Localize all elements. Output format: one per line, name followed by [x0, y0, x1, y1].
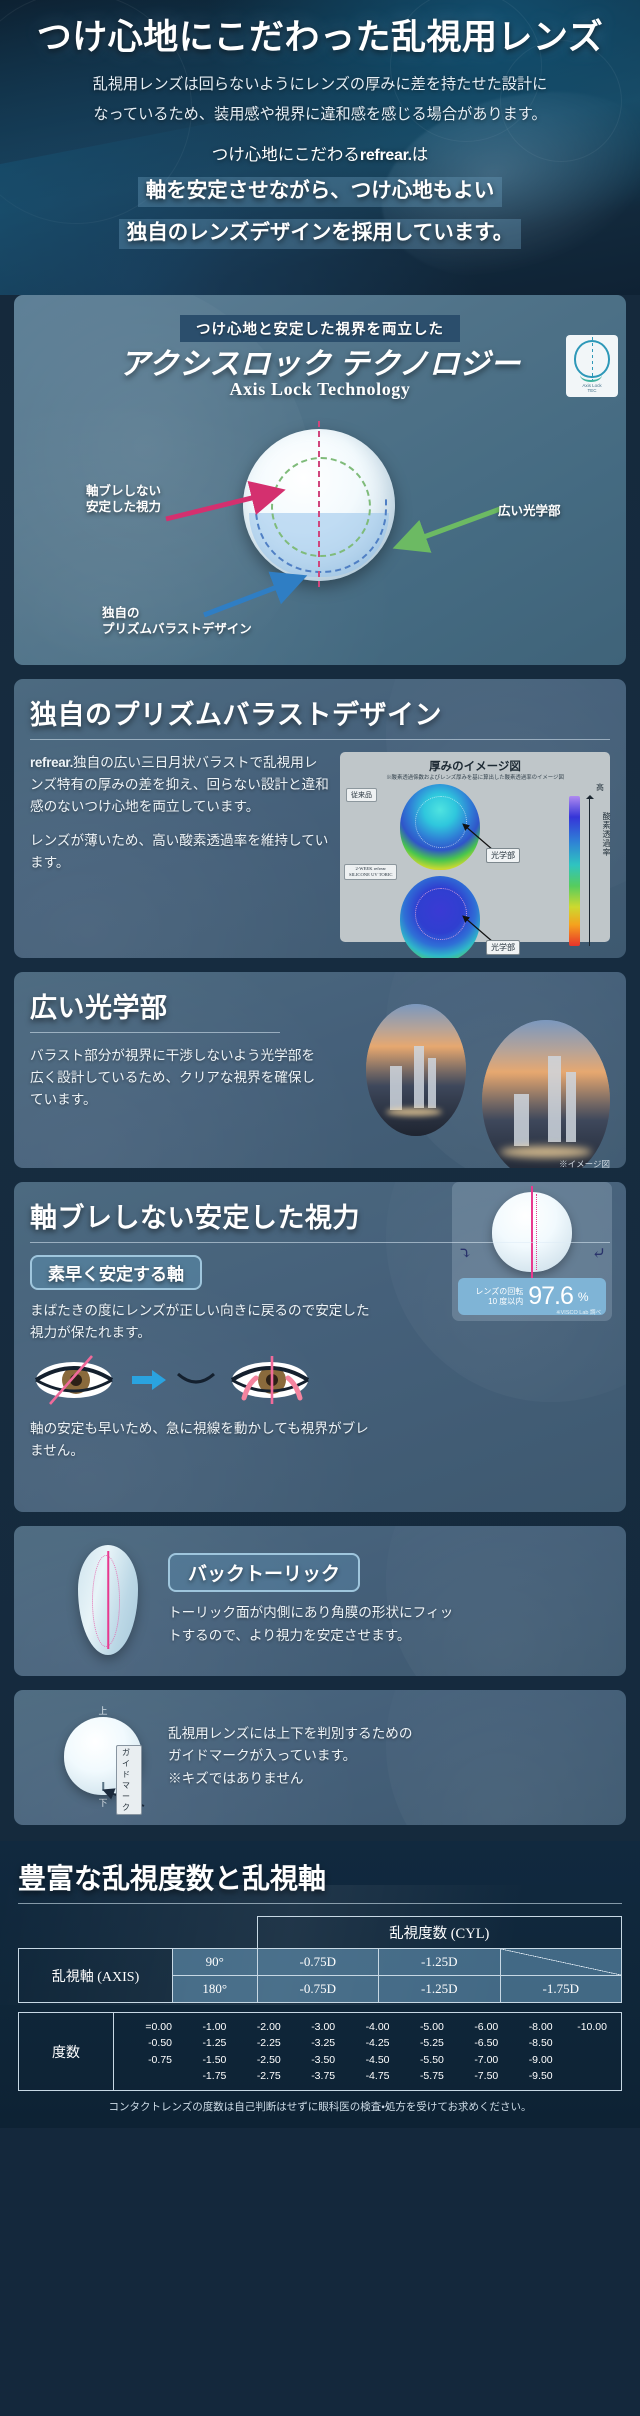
power-table-section: 豊富な乱視度数と乱視軸 乱視度数 (CYL) 乱視軸 (AXIS) 90° -0…: [0, 1841, 640, 2128]
power-column: -3.00-3.25-3.50-3.75: [291, 2019, 335, 2084]
page-title: つけ心地にこだわった乱視用レンズ: [0, 18, 640, 57]
wide-optic-heading: 広い光学部: [30, 986, 610, 1025]
prism-body1-text: 独自の広い三日月状バラストで乱視用レンズ特有の厚みの差を抑え、回らない設計と違和…: [30, 755, 329, 814]
quick-stable-pill: 素早く安定する軸: [30, 1255, 202, 1290]
power-value: -5.75: [400, 2068, 444, 2084]
power-value: -10.00: [563, 2019, 607, 2035]
power-value: -4.75: [346, 2068, 390, 2084]
axis-value: 90°: [173, 1949, 258, 1976]
city-photo-large: [482, 1020, 610, 1168]
power-value: -1.50: [182, 2052, 226, 2068]
axis-lock-title: アクシスロック テクノロジー: [14, 339, 626, 383]
power-value: -4.50: [346, 2052, 390, 2068]
power-value: -8.00: [509, 2019, 553, 2035]
table-footnote: コンタクトレンズの度数は自己判断はせずに眼科医の検査・処方を受けてお求めください…: [18, 2099, 622, 2114]
wide-optic-section: 広い光学部 バラスト部分が視界に干渉しないよう光学部を広く設計しているため、クリ…: [14, 972, 626, 1168]
building: [390, 1066, 402, 1110]
power-column: -5.00-5.25-5.50-5.75: [400, 2019, 444, 2084]
axis-lock-icon: [574, 340, 610, 378]
rotate-arrow-right-icon: ⤶: [592, 1244, 606, 1264]
power-value: -7.50: [454, 2068, 498, 2084]
power-value: [563, 2052, 607, 2068]
empty-corner: [19, 1917, 173, 1949]
cyl-value: -0.75D: [257, 1949, 379, 1976]
power-value: -5.00: [400, 2019, 444, 2035]
side-lens-illustration: [78, 1545, 138, 1655]
power-column: =0.00-0.50-0.75: [128, 2019, 172, 2084]
power-value: -1.25: [182, 2035, 226, 2051]
stat-unit: %: [578, 1290, 589, 1304]
axis-lock-panel: つけ心地と安定した視界を両立した アクシスロック テクノロジー Axis Loc…: [14, 295, 626, 665]
stat-label-line1: レンズの回転: [475, 1287, 523, 1297]
guide-mark-illustration: 上 下 ガイドマーク: [64, 1704, 142, 1809]
lens-axis-line: [318, 421, 320, 587]
power-value: -1.75: [182, 2068, 226, 2084]
label-prism-ballast-line2: プリズムバラストデザイン: [102, 621, 252, 637]
axis-arrow-left: [164, 487, 294, 527]
tag-refrear: 2-WEEK refrear SILICONE UV TORIC: [344, 864, 397, 880]
building: [414, 1046, 424, 1108]
prism-body2: レンズが薄いため、高い酸素透過率を維持しています。: [30, 830, 330, 874]
building: [548, 1056, 561, 1142]
main-content: つけ心地と安定した視界を両立した アクシスロック テクノロジー Axis Loc…: [0, 295, 640, 1841]
power-values-table: 度数 =0.00-0.50-0.75 -1.00-1.25-1.50-1.75-…: [18, 2012, 622, 2091]
power-value: [128, 2068, 172, 2084]
stat-source: ※VISCO Lab 調べ: [556, 1308, 601, 1316]
power-column: -1.00-1.25-1.50-1.75: [182, 2019, 226, 2084]
hero-strong-line2: 独自のレンズデザインを採用しています。: [119, 219, 521, 249]
table-row: 度数 =0.00-0.50-0.75 -1.00-1.25-1.50-1.75-…: [19, 2013, 622, 2091]
power-value: -5.50: [400, 2052, 444, 2068]
power-value: [563, 2035, 607, 2051]
stable-axis-heading: 軸ブレしない安定した視力: [30, 1196, 610, 1235]
power-column: -2.00-2.25-2.50-2.75: [237, 2019, 281, 2084]
power-value: -2.75: [237, 2068, 281, 2084]
callout-optic-new: 光学部: [486, 940, 520, 955]
divider: [30, 739, 610, 740]
hero-section: つけ心地にこだわった乱視用レンズ 乱視用レンズは回らないようにレンズの厚みに差を…: [0, 0, 640, 295]
power-value: -0.50: [128, 2035, 172, 2051]
cyl-header: 乱視度数 (CYL): [257, 1917, 622, 1949]
guide-mark-body: 乱視用レンズには上下を判別するための ガイドマークが入っています。 ※キズではあ…: [168, 1723, 498, 1789]
empty-corner: [173, 1917, 258, 1949]
power-value: -0.75: [128, 2052, 172, 2068]
hero-sub-suffix: は: [412, 145, 429, 164]
axis-lock-title-en: Axis Lock Technology: [14, 379, 626, 400]
axis-value: 180°: [173, 1976, 258, 2003]
hero-subheading: つけ心地にこだわるrefrear.は: [0, 141, 640, 165]
power-value: -2.50: [237, 2052, 281, 2068]
brand-name: refrear.: [30, 755, 73, 770]
image-note: ※イメージ図: [559, 1158, 610, 1168]
thickness-figure: 厚みのイメージ図 ※酸素透過係数およびレンズ厚みを基に算出した酸素透過率のイメー…: [340, 752, 610, 942]
arrow-right-icon: [132, 1370, 166, 1390]
table-row: 乱視度数 (CYL): [19, 1917, 622, 1949]
cyl-value: -1.75D: [500, 1976, 622, 2003]
stable-axis-body2: 軸の安定も早いため、急に視線を動かしても視界がブレません。: [30, 1418, 380, 1462]
guide-mark-line1: 乱視用レンズには上下を判別するための: [168, 1723, 498, 1745]
scale-high-label: 高: [596, 782, 604, 793]
prism-ballast-section: 独自のプリズムバラストデザイン refrear.独自の広い三日月状バラストで乱視…: [14, 679, 626, 958]
label-prism-ballast: 独自の プリズムバラストデザイン: [102, 605, 252, 638]
label-prism-ballast-line1: 独自の: [102, 605, 252, 621]
power-grid: =0.00-0.50-0.75 -1.00-1.25-1.50-1.75-2.0…: [118, 2019, 617, 2084]
rotate-arrow-left-icon: ⤵: [458, 1244, 472, 1264]
eye-closed-icon: [176, 1368, 216, 1392]
stable-axis-body1: まばたきの度にレンズが正しい向きに戻るので安定した視力が保たれます。: [30, 1300, 380, 1344]
power-value: -3.75: [291, 2068, 335, 2084]
power-column: -10.00: [563, 2019, 607, 2084]
building: [566, 1072, 576, 1142]
power-table-heading: 豊富な乱視度数と乱視軸: [18, 1857, 622, 1897]
figure-title: 厚みのイメージ図: [346, 758, 604, 774]
label-wide-optic: 広い光学部: [498, 503, 561, 519]
hero-sub-prefix: つけ心地にこだわる: [212, 145, 360, 164]
label-stable-vision-line2: 安定した視力: [86, 499, 161, 515]
brand-name: refrear.: [360, 147, 412, 164]
hero-lead-line1: 乱視用レンズは回らないようにレンズの厚みに差を持たせた設計に: [40, 70, 600, 100]
back-toric-body: トーリック面が内側にあり角膜の形状にフィットするので、より視力を安定させます。: [168, 1602, 458, 1646]
product-page: つけ心地にこだわった乱視用レンズ 乱視用レンズは回らないようにレンズの厚みに差を…: [0, 0, 640, 2416]
stat-value: 97.6: [528, 1282, 573, 1311]
cyl-value: -1.25D: [379, 1949, 501, 1976]
tag-refrear-line2: SILICONE UV TORIC: [349, 872, 392, 878]
prism-body1: refrear.独自の広い三日月状バラストで乱視用レンズ特有の厚みの差を抑え、回…: [30, 752, 330, 818]
eye-aligned-icon: [226, 1354, 318, 1406]
power-value: -3.00: [291, 2019, 335, 2035]
power-value: =0.00: [128, 2019, 172, 2035]
callout-optic-old: 光学部: [486, 848, 520, 863]
cyl-value-unavailable: [500, 1949, 622, 1976]
power-value: -4.25: [346, 2035, 390, 2051]
scale-arrow: [589, 796, 590, 946]
toric-lens-side-view: [78, 1545, 138, 1655]
cyl-value: -1.25D: [379, 1976, 501, 2003]
stable-axis-section: 軸ブレしない安定した視力 素早く安定する軸 まばたきの度にレンズが正しい向きに戻…: [14, 1182, 626, 1512]
hero-lead-line2: なっているため、装用感や視界に違和感を感じる場合があります。: [40, 100, 600, 130]
guide-mark-line2: ガイドマークが入っています。: [168, 1745, 498, 1767]
guide-mark-line3: ※キズではありません: [168, 1768, 498, 1790]
rotation-stat-bubble: レンズの回転 10 度以内 97.6 % ※VISCO Lab 調べ: [458, 1278, 606, 1315]
power-value: -9.00: [509, 2052, 553, 2068]
cyl-axis-table: 乱視度数 (CYL) 乱視軸 (AXIS) 90° -0.75D -1.25D …: [18, 1916, 622, 2003]
power-values-cell: =0.00-0.50-0.75 -1.00-1.25-1.50-1.75-2.0…: [114, 2013, 622, 2091]
cyl-value: -0.75D: [257, 1976, 379, 2003]
badge-line2: TEC: [582, 388, 601, 394]
power-value: -2.25: [237, 2035, 281, 2051]
power-column: -6.00-6.50-7.00-7.50: [454, 2019, 498, 2084]
power-label: 度数: [19, 2013, 114, 2091]
eye-sequence: [30, 1354, 610, 1406]
power-value: -5.25: [400, 2035, 444, 2051]
optic-arrow-right: [394, 507, 504, 553]
stat-label-line2: 10 度以内: [475, 1297, 523, 1307]
guide-mark-section: 上 下 ガイドマーク 乱視用レンズには上下を判別するための ガイドマークが入って…: [14, 1690, 626, 1825]
toric-axis-line: [107, 1551, 109, 1649]
hero-strong-line1: 軸を安定させながら、つけ心地もよい: [138, 177, 503, 207]
guide-mark-tag: ガイドマーク: [116, 1745, 142, 1815]
power-value: -3.25: [291, 2035, 335, 2051]
power-column: -4.00-4.25-4.50-4.75: [346, 2019, 390, 2084]
power-value: -4.00: [346, 2019, 390, 2035]
color-scale-bar: [569, 796, 580, 946]
back-toric-section: バックトーリック トーリック面が内側にあり角膜の形状にフィットするので、より視力…: [14, 1526, 626, 1676]
power-value: -1.00: [182, 2019, 226, 2035]
eye-tilted-icon: [30, 1354, 122, 1406]
back-toric-pill: バックトーリック: [168, 1553, 360, 1592]
figure-note: ※酸素透過係数およびレンズ厚みを基に算出した酸素透過率のイメージ図: [346, 775, 604, 782]
building: [428, 1058, 436, 1108]
prism-heading: 独自のプリズムバラストデザイン: [30, 693, 610, 732]
divider: [18, 1903, 622, 1904]
power-value: -8.50: [509, 2035, 553, 2051]
divider: [30, 1242, 610, 1243]
axis-header: 乱視軸 (AXIS): [19, 1949, 173, 2003]
power-value: -2.00: [237, 2019, 281, 2035]
label-stable-vision: 軸ブレしない 安定した視力: [86, 483, 161, 516]
power-value: -6.50: [454, 2035, 498, 2051]
photo-glow: [500, 1146, 592, 1158]
tag-conventional: 従来品: [346, 788, 377, 802]
photo-glow: [386, 1108, 442, 1116]
label-stable-vision-line1: 軸ブレしない: [86, 483, 161, 499]
table-row: 乱視軸 (AXIS) 90° -0.75D -1.25D: [19, 1949, 622, 1976]
power-value: -6.00: [454, 2019, 498, 2035]
power-value: [563, 2068, 607, 2084]
power-column: -8.00-8.50-9.00-9.50: [509, 2019, 553, 2084]
power-value: -7.00: [454, 2052, 498, 2068]
axis-lock-badge: Axis Lock TEC: [566, 335, 618, 397]
building: [514, 1094, 529, 1146]
spacer: [0, 1825, 640, 1841]
divider: [30, 1032, 280, 1033]
toric-surface-dashed: [92, 1555, 120, 1647]
scale-axis-label: 酸素透過率: [601, 812, 612, 857]
power-value: -9.50: [509, 2068, 553, 2084]
label-top: 上: [64, 1704, 142, 1717]
wide-optic-body: バラスト部分が視界に干渉しないよう光学部を広く設計しているため、クリアな視界を確…: [30, 1045, 320, 1111]
axis-lock-ribbon: つけ心地と安定した視界を両立した: [180, 315, 460, 342]
power-value: -3.50: [291, 2052, 335, 2068]
